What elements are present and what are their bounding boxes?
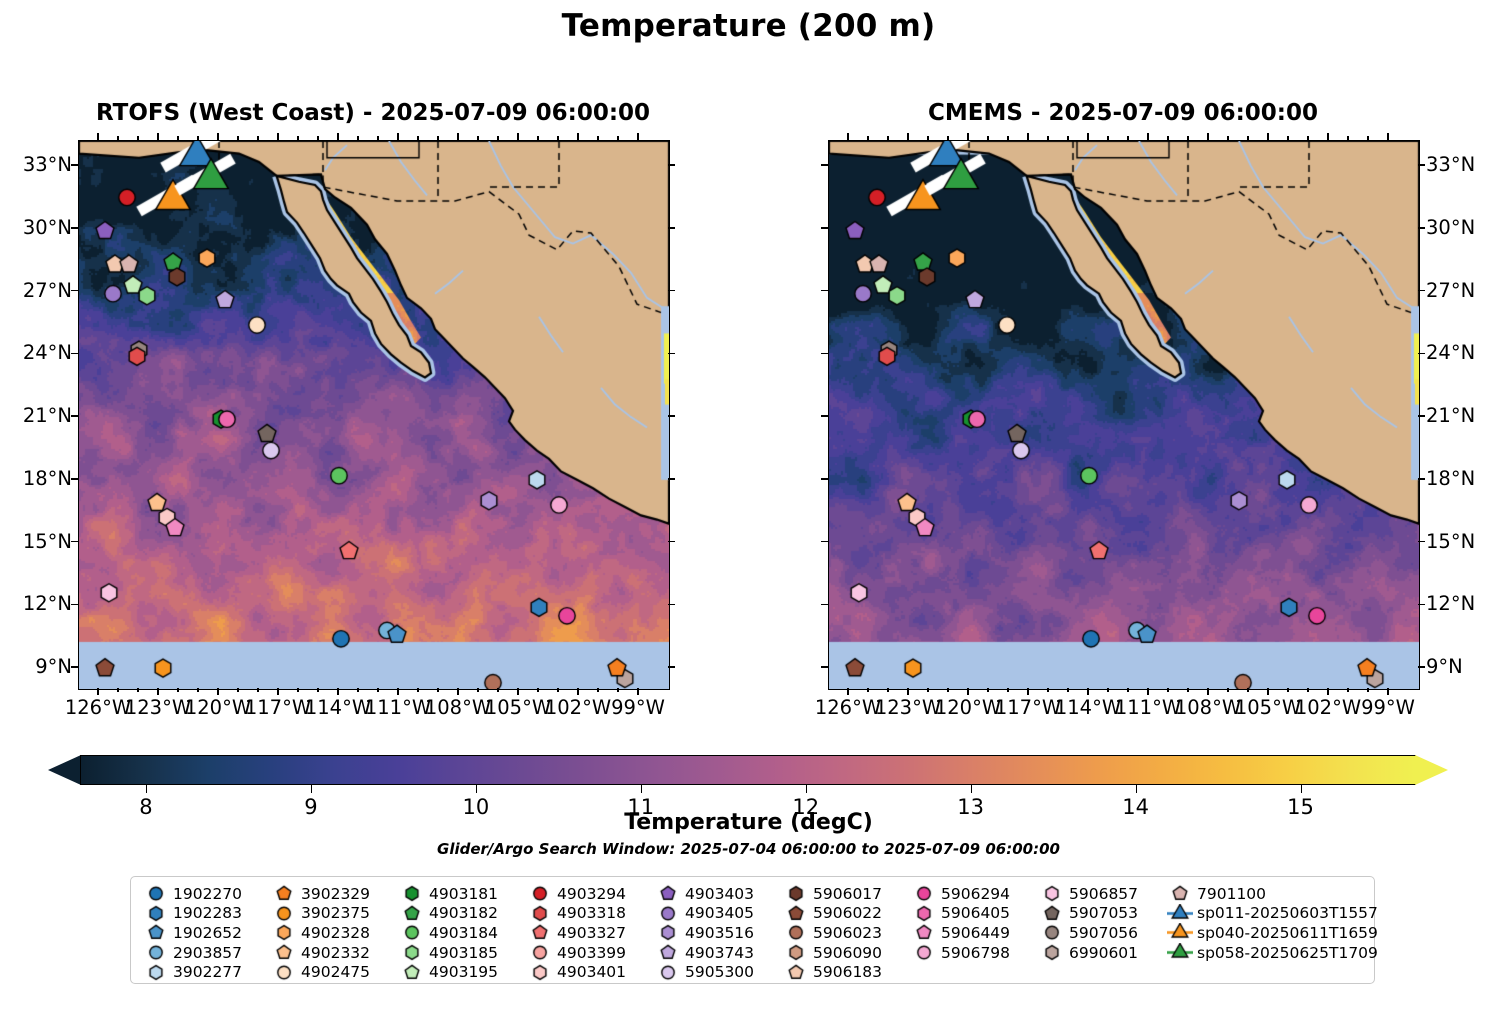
legend-column: 7901100sp011-20250603T1557sp040-20250611… <box>1167 884 1378 962</box>
xtick-minor <box>557 136 559 140</box>
legend-label: 4902475 <box>297 963 370 981</box>
xtick <box>277 133 279 140</box>
ytick <box>71 290 78 292</box>
panel-title-cmems: CMEMS - 2025-07-09 06:00:00 <box>828 100 1418 130</box>
xtick <box>967 133 969 140</box>
ytick <box>668 478 675 480</box>
ytick-label: 30°N <box>2 216 72 239</box>
legend-item[interactable]: 4903195 <box>399 962 498 982</box>
legend-marker-circle-icon <box>271 904 297 923</box>
ytick <box>668 415 675 417</box>
legend-item[interactable]: 2903857 <box>143 943 242 963</box>
legend-item[interactable]: 3902375 <box>271 904 370 924</box>
xtick <box>637 133 639 140</box>
legend-marker-circle-icon <box>527 943 553 962</box>
legend-marker-pentagon-icon <box>271 943 297 962</box>
xtick-minor <box>1227 688 1229 692</box>
xtick-minor <box>1367 688 1369 692</box>
legend-label: 5906023 <box>809 924 882 942</box>
legend-marker-pentagon-icon <box>143 923 169 942</box>
legend-marker-circle-icon <box>143 884 169 903</box>
legend-column: 5906857590705359070566990601 <box>1039 884 1138 962</box>
legend-marker-pentagon-icon <box>1039 904 1065 923</box>
xtick-minor <box>1047 136 1049 140</box>
xtick <box>337 688 339 695</box>
legend-column: 39023293902375490232849023324902475 <box>271 884 370 982</box>
legend-item[interactable]: 5906449 <box>911 923 1010 943</box>
legend-marker-circle-icon <box>527 884 553 903</box>
colorbar-extend-max-icon <box>1415 755 1448 785</box>
xtick-minor <box>177 688 179 692</box>
legend-marker-circle-icon <box>143 943 169 962</box>
legend-label: 5906798 <box>937 944 1010 962</box>
map-canvas-rtofs <box>79 141 669 689</box>
ytick <box>821 290 828 292</box>
colorbar-tick <box>806 785 808 793</box>
ytick <box>821 164 828 166</box>
xtick-minor <box>417 136 419 140</box>
xtick <box>967 688 969 695</box>
legend-label: 5906294 <box>937 885 1010 903</box>
legend-label: 2903857 <box>169 944 242 962</box>
xtick <box>1147 133 1149 140</box>
ytick <box>1418 478 1425 480</box>
legend-item[interactable]: sp040-20250611T1659 <box>1167 923 1378 943</box>
xtick-minor <box>1167 688 1169 692</box>
colorbar-tick <box>311 785 313 793</box>
legend-label: 3902375 <box>297 904 370 922</box>
xtick-minor <box>987 136 989 140</box>
legend-item[interactable]: 5906798 <box>911 943 1010 963</box>
legend-label: 4903403 <box>681 885 754 903</box>
legend-marker-pentagon-icon <box>783 963 809 982</box>
legend-item[interactable]: 1902283 <box>143 904 242 924</box>
legend-item[interactable]: 5906017 <box>783 884 882 904</box>
ytick <box>821 353 828 355</box>
ytick-label: 27°N <box>2 279 72 302</box>
xtick-minor <box>617 688 619 692</box>
xtick-minor <box>117 688 119 692</box>
xtick <box>1387 133 1389 140</box>
ytick-label: 15°N <box>2 530 72 553</box>
xtick-minor <box>257 688 259 692</box>
xtick <box>1087 133 1089 140</box>
xtick-minor <box>947 136 949 140</box>
ytick <box>1418 415 1425 417</box>
xtick-minor <box>887 136 889 140</box>
xtick-minor <box>237 136 239 140</box>
xtick <box>517 688 519 695</box>
legend-label: 6990601 <box>1065 944 1138 962</box>
xtick-minor <box>1007 136 1009 140</box>
xtick-minor <box>137 688 139 692</box>
legend-label: 1902283 <box>169 904 242 922</box>
legend-label: 5907056 <box>1065 924 1138 942</box>
legend-column: 49032944903318490332749033994903401 <box>527 884 626 982</box>
legend-marker-hexagon-icon <box>143 904 169 923</box>
xtick-minor <box>377 136 379 140</box>
legend-item[interactable]: 5906183 <box>783 962 882 982</box>
xtick-minor <box>867 136 869 140</box>
ytick <box>821 666 828 668</box>
legend-label: 3902329 <box>297 885 370 903</box>
legend-marker-circle-icon <box>783 923 809 942</box>
xtick-minor <box>1247 136 1249 140</box>
ytick-label: 15°N <box>1426 530 1497 553</box>
ytick-label: 9°N <box>1426 655 1497 678</box>
legend-item[interactable]: 5907056 <box>1039 923 1138 943</box>
xtick-minor <box>137 136 139 140</box>
xtick-minor <box>357 688 359 692</box>
legend-label: 4903195 <box>425 963 498 981</box>
xtick-minor <box>1187 688 1189 692</box>
legend-marker-circle-icon <box>399 923 425 942</box>
legend-label: 5906022 <box>809 904 882 922</box>
xtick <box>157 133 159 140</box>
legend-marker-hexagon-icon <box>527 904 553 923</box>
legend-item[interactable]: 4903516 <box>655 923 754 943</box>
legend-item[interactable]: 4903182 <box>399 904 498 924</box>
legend-label: 4903294 <box>553 885 626 903</box>
xtick <box>847 688 849 695</box>
ytick <box>821 541 828 543</box>
xtick-minor <box>417 688 419 692</box>
legend-marker-hexagon-icon <box>783 943 809 962</box>
xtick <box>457 133 459 140</box>
legend-marker-hexagon-icon <box>143 963 169 982</box>
legend-label: 4903399 <box>553 944 626 962</box>
xtick-minor <box>1187 136 1189 140</box>
ytick-label: 18°N <box>1426 467 1497 490</box>
ytick <box>71 164 78 166</box>
legend-marker-pentagon-icon <box>911 923 937 942</box>
search-window-caption: Glider/Argo Search Window: 2025-07-04 06… <box>0 840 1497 858</box>
legend-label: 5906090 <box>809 944 882 962</box>
xtick-minor <box>237 688 239 692</box>
colorbar-tick <box>971 785 973 793</box>
xtick-minor <box>1247 688 1249 692</box>
xtick-minor <box>1287 688 1289 692</box>
ytick <box>668 604 675 606</box>
legend-item[interactable]: 1902270 <box>143 884 242 904</box>
xtick-minor <box>317 136 319 140</box>
colorbar[interactable]: 89101112131415 <box>48 755 1448 785</box>
legend-label: 1902270 <box>169 885 242 903</box>
xtick <box>577 133 579 140</box>
xtick <box>157 688 159 695</box>
xtick-minor <box>1367 136 1369 140</box>
xtick-minor <box>1167 136 1169 140</box>
legend-marker-triangle-icon <box>1167 904 1193 923</box>
colorbar-extend-min-icon <box>48 755 81 785</box>
legend-column: 49031814903182490318449031854903195 <box>399 884 498 982</box>
xtick-minor <box>477 136 479 140</box>
legend-label: 4903401 <box>553 963 626 981</box>
xtick <box>337 133 339 140</box>
legend-item[interactable]: 4903327 <box>527 923 626 943</box>
legend-item[interactable]: 4902328 <box>271 923 370 943</box>
legend-column: 49034034903405490351649037435905300 <box>655 884 754 982</box>
legend-marker-triangle-icon <box>1167 923 1193 942</box>
xtick-minor <box>1347 688 1349 692</box>
legend-label: 1902652 <box>169 924 242 942</box>
xtick-minor <box>177 136 179 140</box>
xtick-minor <box>1107 688 1109 692</box>
legend-marker-pentagon-icon <box>399 904 425 923</box>
legend-item[interactable]: 4903399 <box>527 943 626 963</box>
xtick-minor <box>597 688 599 692</box>
ytick-label: 21°N <box>1426 404 1497 427</box>
legend-marker-pentagon-icon <box>399 963 425 982</box>
xtick-minor <box>1107 136 1109 140</box>
legend-marker-pentagon-icon <box>655 943 681 962</box>
xtick <box>1267 133 1269 140</box>
ytick <box>821 478 828 480</box>
legend-label: 5907053 <box>1065 904 1138 922</box>
legend-label: sp058-20250625T1709 <box>1193 944 1378 962</box>
ytick <box>1418 227 1425 229</box>
legend-item[interactable]: 5906090 <box>783 943 882 963</box>
legend-item[interactable]: 4902332 <box>271 943 370 963</box>
figure-root: Temperature (200 m) RTOFS (West Coast) -… <box>0 0 1497 1014</box>
legend-label: 4903405 <box>681 904 754 922</box>
legend-item[interactable]: 5907053 <box>1039 904 1138 924</box>
platform-legend[interactable]: 1902270190228319026522903857390227739023… <box>130 876 1375 984</box>
ytick-label: 12°N <box>2 592 72 615</box>
colorbar-tick <box>641 785 643 793</box>
panel-title-rtofs: RTOFS (West Coast) - 2025-07-09 06:00:00 <box>78 100 668 130</box>
xtick-label: 99°W <box>601 696 675 719</box>
legend-label: 4902328 <box>297 924 370 942</box>
colorbar-tick <box>1136 785 1138 793</box>
ytick <box>668 164 675 166</box>
colorbar-title: Temperature (degC) <box>0 810 1497 835</box>
ytick-label: 9°N <box>2 655 72 678</box>
xtick <box>637 688 639 695</box>
xtick-minor <box>437 136 439 140</box>
ytick <box>71 604 78 606</box>
legend-label: 5905300 <box>681 963 754 981</box>
ytick <box>668 290 675 292</box>
legend-marker-hexagon-icon <box>527 963 553 982</box>
legend-label: 4902332 <box>297 944 370 962</box>
legend-item[interactable]: sp011-20250603T1557 <box>1167 904 1378 924</box>
map-panel-rtofs[interactable] <box>78 140 670 690</box>
legend-column: 59060175906022590602359060905906183 <box>783 884 882 982</box>
legend-item[interactable]: 5906022 <box>783 904 882 924</box>
legend-item[interactable]: 4903181 <box>399 884 498 904</box>
xtick-minor <box>377 688 379 692</box>
legend-label: 5906017 <box>809 885 882 903</box>
xtick-minor <box>537 136 539 140</box>
legend-marker-hexagon-icon <box>1039 943 1065 962</box>
ytick <box>821 604 828 606</box>
xtick <box>517 133 519 140</box>
ytick <box>821 227 828 229</box>
legend-item[interactable]: 4903294 <box>527 884 626 904</box>
xtick-minor <box>257 136 259 140</box>
legend-marker-pentagon-icon <box>271 884 297 903</box>
map-canvas-cmems <box>829 141 1419 689</box>
ytick <box>1418 604 1425 606</box>
xtick-minor <box>1307 136 1309 140</box>
xtick-minor <box>1287 136 1289 140</box>
xtick-minor <box>927 688 929 692</box>
legend-label: 5906857 <box>1065 885 1138 903</box>
ytick-label: 21°N <box>2 404 72 427</box>
ytick <box>668 353 675 355</box>
xtick-minor <box>867 688 869 692</box>
ytick <box>71 415 78 417</box>
legend-label: sp011-20250603T1557 <box>1193 904 1378 922</box>
ytick-label: 30°N <box>1426 216 1497 239</box>
xtick-minor <box>537 688 539 692</box>
xtick-minor <box>317 688 319 692</box>
xtick <box>457 688 459 695</box>
legend-marker-circle-icon <box>655 963 681 982</box>
legend-item[interactable]: 4903401 <box>527 962 626 982</box>
xtick-minor <box>1067 688 1069 692</box>
ytick <box>71 666 78 668</box>
legend-item[interactable]: 7901100 <box>1167 884 1378 904</box>
ytick <box>71 478 78 480</box>
ytick-label: 18°N <box>2 467 72 490</box>
ytick-label: 33°N <box>1426 153 1497 176</box>
ytick <box>668 666 675 668</box>
xtick-minor <box>437 688 439 692</box>
legend-label: 4903185 <box>425 944 498 962</box>
legend-item[interactable]: 1902652 <box>143 923 242 943</box>
xtick-label: 99°W <box>1351 696 1425 719</box>
xtick <box>1327 688 1329 695</box>
legend-marker-circle-icon <box>911 884 937 903</box>
legend-label: 4903318 <box>553 904 626 922</box>
legend-label: 5906183 <box>809 963 882 981</box>
colorbar-body <box>80 755 1416 785</box>
xtick <box>1267 688 1269 695</box>
xtick <box>907 688 909 695</box>
ytick <box>1418 541 1425 543</box>
ytick <box>1418 164 1425 166</box>
xtick-minor <box>1347 136 1349 140</box>
xtick <box>217 133 219 140</box>
xtick-minor <box>557 688 559 692</box>
colorbar-tick <box>476 785 478 793</box>
legend-marker-pentagon-icon <box>527 923 553 942</box>
ytick <box>71 353 78 355</box>
legend-item[interactable]: 5906023 <box>783 923 882 943</box>
xtick-minor <box>1127 136 1129 140</box>
xtick <box>1387 688 1389 695</box>
xtick <box>277 688 279 695</box>
xtick-minor <box>477 688 479 692</box>
legend-label: 4903743 <box>681 944 754 962</box>
legend-item[interactable]: 5905300 <box>655 962 754 982</box>
xtick-minor <box>497 688 499 692</box>
xtick-minor <box>297 136 299 140</box>
legend-item[interactable]: 4903185 <box>399 943 498 963</box>
legend-label: sp040-20250611T1659 <box>1193 924 1378 942</box>
xtick <box>907 133 909 140</box>
legend-item[interactable]: 5906294 <box>911 884 1010 904</box>
xtick-minor <box>927 136 929 140</box>
xtick <box>217 688 219 695</box>
legend-marker-hexagon-icon <box>911 904 937 923</box>
ytick-label: 24°N <box>2 341 72 364</box>
xtick <box>1027 133 1029 140</box>
legend-item[interactable]: 4903405 <box>655 904 754 924</box>
legend-marker-hexagon-icon <box>399 943 425 962</box>
xtick-minor <box>597 136 599 140</box>
xtick-minor <box>987 688 989 692</box>
legend-item[interactable]: sp058-20250625T1709 <box>1167 943 1378 963</box>
legend-item[interactable]: 4903184 <box>399 923 498 943</box>
legend-marker-hexagon-icon <box>655 923 681 942</box>
xtick-minor <box>1227 136 1229 140</box>
xtick-minor <box>1307 688 1309 692</box>
legend-label: 3902277 <box>169 963 242 981</box>
legend-label: 7901100 <box>1193 885 1266 903</box>
legend-item[interactable]: 4903743 <box>655 943 754 963</box>
legend-item[interactable]: 6990601 <box>1039 943 1138 963</box>
legend-column: 5906294590640559064495906798 <box>911 884 1010 962</box>
xtick-minor <box>297 688 299 692</box>
legend-label: 5906405 <box>937 904 1010 922</box>
legend-item[interactable]: 5906405 <box>911 904 1010 924</box>
legend-marker-pentagon-icon <box>1167 884 1193 903</box>
legend-marker-pentagon-icon <box>655 884 681 903</box>
xtick <box>847 133 849 140</box>
legend-column: 19022701902283190265229038573902277 <box>143 884 242 982</box>
xtick <box>397 688 399 695</box>
ytick <box>1418 666 1425 668</box>
legend-label: 4903184 <box>425 924 498 942</box>
legend-marker-hexagon-icon <box>783 884 809 903</box>
ytick-label: 24°N <box>1426 341 1497 364</box>
ytick-label: 27°N <box>1426 279 1497 302</box>
xtick <box>1207 133 1209 140</box>
ytick <box>1418 290 1425 292</box>
legend-item[interactable]: 3902277 <box>143 962 242 982</box>
ytick <box>71 541 78 543</box>
legend-item[interactable]: 4903403 <box>655 884 754 904</box>
ytick-label: 12°N <box>1426 592 1497 615</box>
xtick <box>1327 133 1329 140</box>
xtick <box>1207 688 1209 695</box>
xtick <box>97 688 99 695</box>
legend-item[interactable]: 3902329 <box>271 884 370 904</box>
legend-marker-circle-icon <box>271 963 297 982</box>
xtick <box>97 133 99 140</box>
ytick <box>1418 353 1425 355</box>
xtick-minor <box>887 688 889 692</box>
xtick-minor <box>1007 688 1009 692</box>
xtick-minor <box>117 136 119 140</box>
map-panel-cmems[interactable] <box>828 140 1420 690</box>
legend-label: 4903327 <box>553 924 626 942</box>
legend-label: 4903182 <box>425 904 498 922</box>
xtick-minor <box>357 136 359 140</box>
legend-item[interactable]: 4902475 <box>271 962 370 982</box>
xtick-minor <box>1127 688 1129 692</box>
xtick-minor <box>197 688 199 692</box>
legend-item[interactable]: 5906857 <box>1039 884 1138 904</box>
legend-label: 5906449 <box>937 924 1010 942</box>
legend-item[interactable]: 4903318 <box>527 904 626 924</box>
legend-marker-circle-icon <box>911 943 937 962</box>
ytick <box>821 415 828 417</box>
colorbar-tick <box>146 785 148 793</box>
